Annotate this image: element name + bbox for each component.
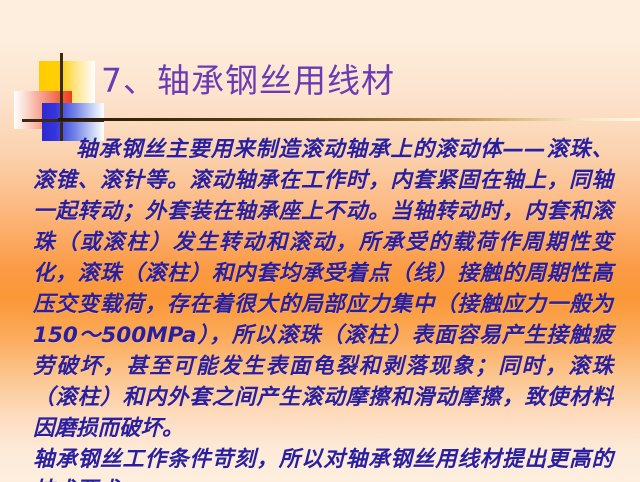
slide-body: 轴承钢丝主要用来制造滚动轴承上的滚动体——滚珠、滚锥、滚针等。滚动轴承在工作时，…: [33, 134, 613, 482]
body-paragraph-2: 轴承钢丝工作条件苛刻，所以对轴承钢丝用线材提出更高的技术要求 。: [33, 444, 613, 482]
title-underline-rule: [58, 118, 640, 121]
logo-vertical-line-icon: [60, 53, 63, 141]
slide-canvas: 7、轴承钢丝用线材 轴承钢丝主要用来制造滚动轴承上的滚动体——滚珠、滚锥、滚针等…: [0, 0, 640, 482]
decorative-squares-cross-logo: [14, 53, 106, 141]
slide-title: 7、轴承钢丝用线材: [101, 60, 395, 102]
body-paragraph-1: 轴承钢丝主要用来制造滚动轴承上的滚动体——滚珠、滚锥、滚针等。滚动轴承在工作时，…: [33, 134, 613, 444]
